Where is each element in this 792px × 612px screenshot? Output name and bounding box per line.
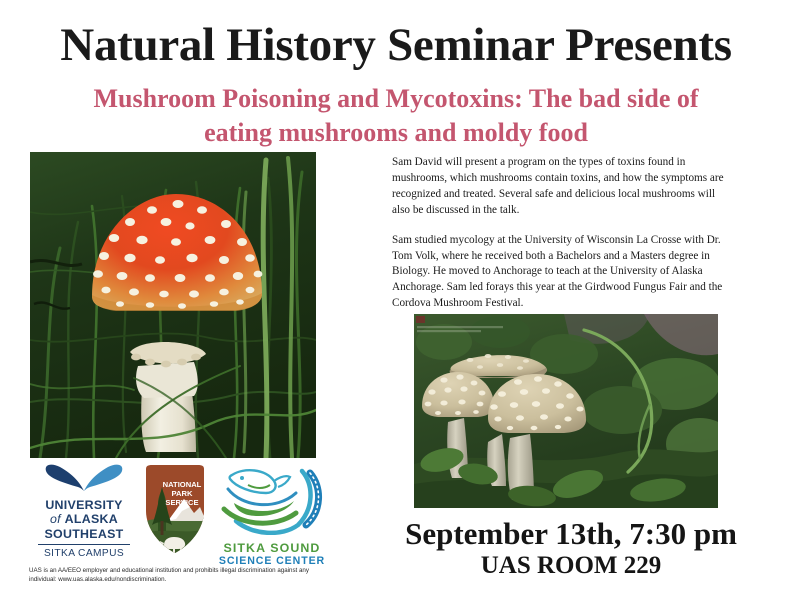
nps-logo: NATIONAL PARK SERVICE: [138, 463, 212, 560]
uas-line-1: UNIVERSITY: [34, 498, 134, 512]
description-paragraph-1: Sam David will present a program on the …: [392, 155, 734, 219]
event-datetime: September 13th, 7:30 pm: [352, 518, 790, 551]
pale-warty-amanita-cluster-photo: [414, 314, 718, 508]
nps-line-3: SERVICE: [165, 498, 198, 507]
sponsor-logo-row: UNIVERSITY of ALASKA SOUTHEAST SITKA CAM…: [32, 463, 328, 561]
uas-line-3: SOUTHEAST: [34, 527, 134, 541]
uas-line-2-of: of: [50, 512, 61, 526]
uas-logo: UNIVERSITY of ALASKA SOUTHEAST SITKA CAM…: [34, 463, 134, 559]
sssc-line-1: SITKA SOUND: [218, 542, 326, 556]
uas-wordmark: UNIVERSITY of ALASKA SOUTHEAST: [34, 498, 134, 541]
uas-line-2-alaska: ALASKA: [65, 512, 118, 526]
fish-wave-circle-icon: [218, 463, 326, 535]
event-location: UAS ROOM 229: [352, 552, 790, 580]
uas-campus-label: SITKA CAMPUS: [34, 548, 134, 559]
nondiscrimination-disclaimer: UAS is an AA/EEO employer and educationa…: [29, 566, 317, 584]
uas-divider: [38, 544, 130, 545]
uas-line-2: of ALASKA: [34, 512, 134, 526]
subtitle-line-2: eating mushrooms and moldy food: [50, 116, 742, 150]
nps-line-2: PARK: [172, 489, 193, 498]
description-block: Sam David will present a program on the …: [392, 155, 734, 326]
poster-subtitle: Mushroom Poisoning and Mycotoxins: The b…: [50, 82, 742, 151]
sssc-wordmark: SITKA SOUND SCIENCE CENTER: [218, 542, 326, 567]
subtitle-line-1: Mushroom Poisoning and Mycotoxins: The b…: [50, 82, 742, 116]
arrowhead-icon: NATIONAL PARK SERVICE: [138, 463, 212, 555]
whale-tail-icon: [34, 463, 134, 493]
description-paragraph-2: Sam studied mycology at the University o…: [392, 233, 734, 313]
event-details: September 13th, 7:30 pm UAS ROOM 229: [352, 518, 790, 580]
sssc-logo: SITKA SOUND SCIENCE CENTER: [218, 463, 326, 567]
nps-line-1: NATIONAL: [163, 480, 202, 489]
red-capped-amanita-muscaria-photo: [30, 152, 316, 458]
page-title: Natural History Seminar Presents: [0, 22, 792, 69]
